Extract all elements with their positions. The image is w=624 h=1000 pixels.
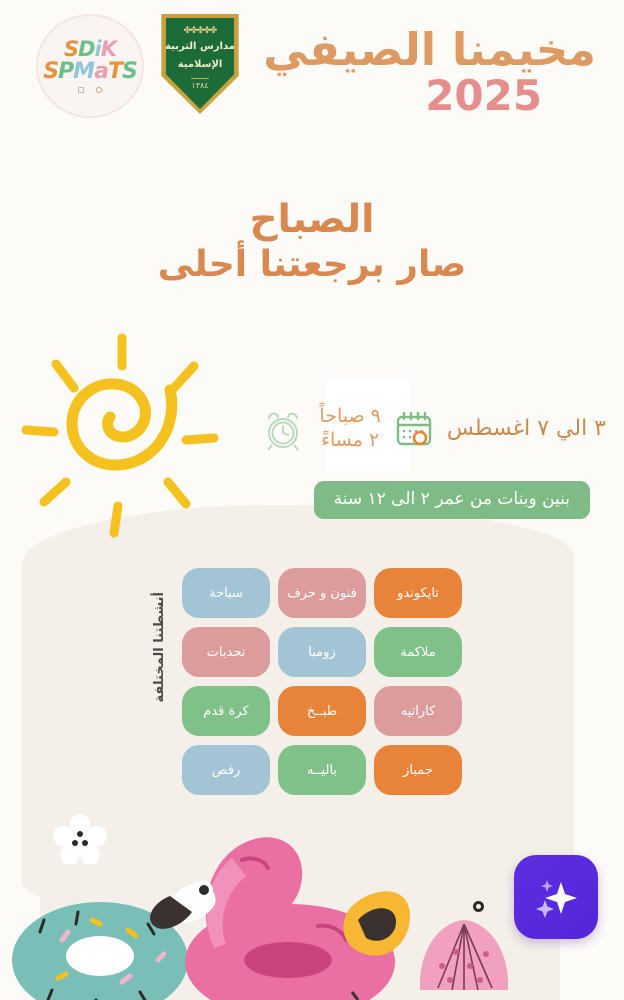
activity-chip[interactable]: تحديات — [182, 627, 270, 677]
leaf-icon — [343, 891, 410, 955]
summer-camp-poster: KiDS STaMPS ✤✤✤✤✤ مدارس التربية الإسلامي… — [0, 0, 624, 1000]
activity-chip[interactable]: زومبا — [278, 627, 366, 677]
poster-header: KiDS STaMPS ✤✤✤✤✤ مدارس التربية الإسلامي… — [0, 0, 624, 155]
camp-hours: ٩ صباحاً ٢ مساءً — [319, 405, 380, 453]
camp-hours-evening: ٢ مساءً — [319, 429, 380, 453]
calendar-icon — [395, 411, 433, 447]
camp-date: ٣ الي ٧ اغسطس — [447, 416, 606, 441]
kids-stamps-dots — [78, 87, 102, 93]
shell-icon — [420, 920, 508, 990]
page-title: مخيمنا الصيفي — [263, 26, 596, 73]
kids-stamps-logo: KiDS STaMPS — [36, 14, 144, 118]
flower-icon — [52, 812, 108, 864]
shield-inner: ✤✤✤✤✤ مدارس التربية الإسلامية ١٣٨٤ — [163, 18, 237, 109]
activity-chip[interactable]: تايكوندو — [374, 568, 462, 618]
shield-outer: ✤✤✤✤✤ مدارس التربية الإسلامية ١٣٨٤ — [158, 14, 242, 114]
ai-sparkle-button[interactable] — [514, 855, 598, 939]
circle-dot-icon — [96, 87, 102, 93]
headline-line2: صار برجعتنا أحلى — [0, 243, 624, 286]
activity-chip[interactable]: باليــه — [278, 745, 366, 795]
activity-chip[interactable]: فنون و حرف — [278, 568, 366, 618]
activity-chip[interactable]: طبــخ — [278, 686, 366, 736]
activity-chip[interactable]: سباحة — [182, 568, 270, 618]
kids-stamps-line2: STaMPS — [43, 60, 137, 83]
activities-section-label: أنشطتنا المختلفة — [152, 592, 167, 703]
islamic-education-schools-emblem: ✤✤✤✤✤ مدارس التربية الإسلامية ١٣٨٤ — [158, 14, 242, 114]
activities-grid: تايكوندو فنون و حرف سباحة ملاكمة زومبا ت… — [182, 568, 462, 795]
kids-stamps-line1: KiDS — [64, 39, 116, 60]
page-title-year: 2025 — [263, 75, 624, 117]
sun-spiral-icon — [18, 318, 238, 553]
age-range-banner: بنين وبنات من عمر ٢ الى ١٢ سنة — [314, 481, 590, 519]
poster-title-block: مخيمنا الصيفي 2025 — [263, 26, 596, 117]
headline: الصباح صار برجعتنا أحلى — [0, 198, 624, 286]
school-founding-year: ١٣٨٤ — [191, 78, 208, 90]
dot-decoration-icon — [473, 901, 484, 912]
schedule-info-row: ٣ الي ٧ اغسطس ٩ صباحاً ٢ مساءً — [261, 405, 606, 453]
activity-chip[interactable]: جمباز — [374, 745, 462, 795]
alarm-clock-icon — [261, 407, 305, 451]
camp-hours-morning: ٩ صباحاً — [319, 405, 380, 429]
headline-line1: الصباح — [0, 198, 624, 243]
activity-chip[interactable]: رقص — [182, 745, 270, 795]
activity-chip[interactable]: كاراتيه — [374, 686, 462, 736]
square-dot-icon — [78, 87, 84, 93]
school-name-line2: الإسلامية — [178, 59, 223, 72]
activity-chip[interactable]: ملاكمة — [374, 627, 462, 677]
sparkle-icon — [529, 870, 583, 924]
crest-icon: ✤✤✤✤✤ — [184, 27, 217, 36]
activity-chip[interactable]: كرة قدم — [182, 686, 270, 736]
school-name-line1: مدارس التربية — [165, 41, 235, 54]
